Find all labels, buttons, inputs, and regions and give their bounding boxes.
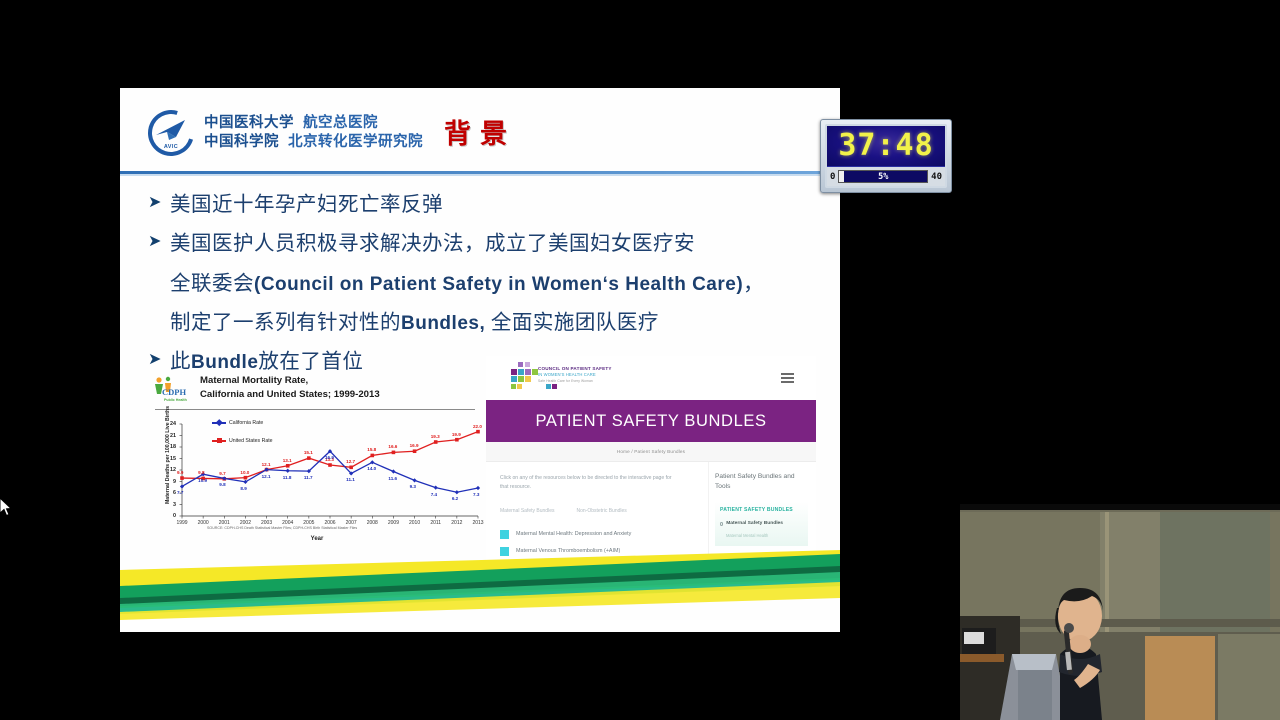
hamburger-icon[interactable] [781,373,794,386]
chart-data-label: 15.1 [304,450,313,455]
chart-title: Maternal Mortality Rate, California and … [200,374,380,401]
chart-data-label: 9.9 [177,470,183,475]
chart-data-label: 10.0 [240,470,249,475]
speaker-video-panel[interactable] [960,504,1280,720]
timer-time: 37:48 [838,131,933,161]
bundle-tabs: Maternal Safety Bundles Non-Obstetric Bu… [500,508,698,514]
bundle-label: Maternal Mental Health: Depression and A… [516,531,631,537]
list-item: ➤ 美国医护人员积极寻求解决办法，成立了美国妇女医疗安 [148,227,820,262]
countdown-timer-widget[interactable]: 37:48 0 5% 40 [820,119,952,193]
timer-percent-label: 5% [878,172,888,182]
chart-data-label: 15.8 [367,447,376,452]
timer-lcd-display: 37:48 [827,126,945,167]
bullet-text: 美国近十年孕产妇死亡率反弹 [170,188,443,223]
mouse-cursor-icon [0,498,14,518]
org-line-2: 中国科学院 北京转化医学研究院 [204,133,423,152]
list-item-continuation: 制定了一系列有针对性的Bundles, 全面实施团队医疗 [148,306,820,341]
list-item[interactable]: Maternal Mental Health: Depression and A… [500,530,698,539]
timer-progress-meter: 0 5% 40 [827,167,945,186]
svg-text:CDPH: CDPH [162,387,186,397]
intro-text: Click on any of the resources below to b… [500,474,680,492]
chart-data-label: 10.9 [198,478,207,483]
chart-data-label: 7.7 [177,490,183,495]
chart-data-label: 9.8 [198,470,204,475]
list-item-continuation: 全联委会(Council on Patient Safety in Women‘… [148,267,820,302]
cdph-logo-icon: CDPH Public Health [152,374,198,404]
avic-swoosh-icon [155,119,189,141]
chart-data-label: 7.3 [473,492,479,497]
chart-data-label: 11.8 [283,475,292,480]
chart-data-label: 7.4 [431,492,437,497]
sidebar-section-heading: PATIENT SAFETY BUNDLES [720,507,803,515]
institution-logo-block: AVIC 中国医科大学 航空总医院 中国科学院 北京转化医学研究院 [148,110,423,156]
slide-header: AVIC 中国医科大学 航空总医院 中国科学院 北京转化医学研究院 背景 [120,88,840,173]
chart-data-label: 12.1 [262,474,271,479]
sidebar-subitem-maternal-mental-health[interactable]: Maternal Mental Health [720,533,803,538]
timer-progress-track: 5% [838,170,928,183]
chart-data-label: 19.9 [452,432,461,437]
sidebar-panel: PATIENT SAFETY BUNDLES Maternal Safety B… [715,502,808,546]
breadcrumb-text: Home / Patient Safety Bundles [617,449,685,454]
chart-data-label: 8.9 [240,486,246,491]
bullet-arrow-icon: ➤ [148,188,170,217]
council-logo-text: COUNCIL ON PATIENT SAFETY IN WOMEN'S HEA… [538,366,612,383]
list-item: ➤ 美国近十年孕产妇死亡率反弹 [148,188,820,223]
bullet-text: 制定了一系列有针对性的Bundles, 全面实施团队医疗 [170,306,659,341]
header-divider-secondary [120,174,840,176]
chart-data-label: 16.9 [410,443,419,448]
chart-data-label: 22.0 [473,424,482,429]
presentation-slide: AVIC 中国医科大学 航空总医院 中国科学院 北京转化医学研究院 背景 ➤ 美… [120,88,840,632]
chart-data-label: 11.7 [304,475,313,480]
chart-data-label: 16.9 [325,455,334,460]
radio-icon [720,522,723,525]
bullet-text: 美国医护人员积极寻求解决办法，成立了美国妇女医疗安 [170,227,695,262]
banner-title: PATIENT SAFETY BUNDLES [535,412,766,431]
chart-data-label: 12.1 [262,462,271,467]
bundle-square-icon [500,530,509,539]
timer-min-label: 0 [830,172,835,182]
bullet-text: 全联委会(Council on Patient Safety in Women‘… [170,267,764,302]
org-line-1: 中国医科大学 航空总医院 [204,114,423,133]
screen-capture: AVIC 中国医科大学 航空总医院 中国科学院 北京转化医学研究院 背景 ➤ 美… [0,0,1280,720]
chart-data-label: 11.6 [388,476,397,481]
sidebar-item-maternal-safety-bundles[interactable]: Maternal Safety Bundles [720,520,803,528]
svg-text:Public Health: Public Health [164,398,187,402]
breadcrumb: Home / Patient Safety Bundles [486,442,816,462]
chart-data-label: 16.6 [388,444,397,449]
avic-logo-icon: AVIC [148,110,194,156]
sidebar-item-label: Maternal Safety Bundles [726,520,783,528]
avic-logo-text: AVIC [148,144,194,150]
website-topbar: COUNCIL ON PATIENT SAFETY IN WOMEN'S HEA… [486,356,816,400]
chart-data-label: 19.3 [431,434,440,439]
bullet-arrow-icon: ➤ [148,345,170,374]
chart-data-label: 6.2 [452,496,458,501]
sidebar-title: Patient Safety Bundles and Tools [715,472,808,492]
chart-data-label: 9.3 [410,484,416,489]
timer-max-label: 40 [931,172,942,182]
chart-data-label: 9.7 [219,471,225,476]
decorative-bands [120,542,840,632]
tab-non-obstetric-bundles[interactable]: Non-Obstetric Bundles [576,508,626,514]
chart-data-label: 13.1 [283,458,292,463]
chart-data-label: 14.0 [367,466,376,471]
tab-maternal-safety-bundles[interactable]: Maternal Safety Bundles [500,508,554,514]
bullet-list: ➤ 美国近十年孕产妇死亡率反弹 ➤ 美国医护人员积极寻求解决办法，成立了美国妇女… [148,188,820,384]
chart-data-label: 12.7 [346,459,355,464]
timer-progress-fill [839,171,843,182]
chart-title-divider [155,409,475,410]
chart-data-label: 11.1 [346,477,355,482]
chart-source-note: SOURCE: CDPH-CHS Death Statistical Maste… [207,526,357,530]
bullet-arrow-icon: ➤ [148,227,170,256]
chart-data-label: 9.8 [219,482,225,487]
page-banner: PATIENT SAFETY BUNDLES [486,400,816,442]
chart-plot-area: Maternal Deaths per 100,000 Live Births … [152,416,482,551]
